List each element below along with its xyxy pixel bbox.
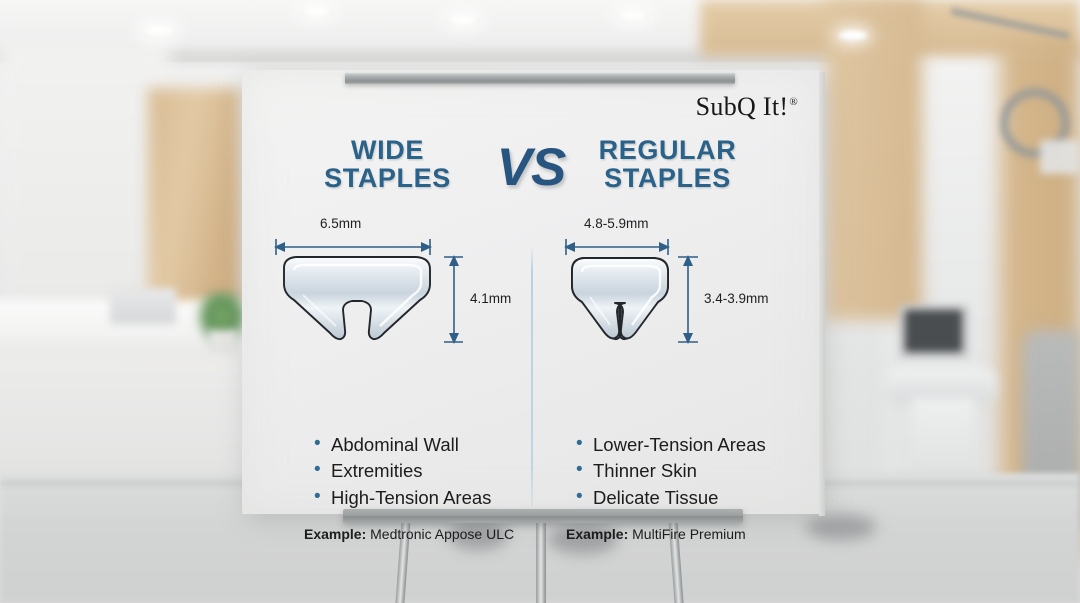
wide-height-label: 4.1mm <box>470 291 511 306</box>
regular-height-label: 3.4-3.9mm <box>704 291 769 306</box>
ultrasound-monitor-screen <box>905 310 962 352</box>
desk-monitor <box>110 288 176 324</box>
title-regular-staples: REGULAR STAPLES <box>560 136 775 193</box>
ceiling-light-icon <box>616 10 650 22</box>
list-item: Thinner Skin <box>576 458 766 484</box>
easel-tray <box>343 509 743 523</box>
wood-panel-right <box>826 0 922 320</box>
plant-pot <box>208 330 238 354</box>
example-label: Example: <box>566 526 628 542</box>
regular-staple-example: Example: MultiFire Premium <box>566 526 746 542</box>
title-regular-line1: REGULAR <box>560 136 775 164</box>
title-row: WIDE STAPLES VS REGULAR STAPLES <box>242 136 820 214</box>
regular-staple-bullets: Lower-Tension Areas Thinner Skin Delicat… <box>576 432 766 511</box>
regular-width-dimension <box>566 239 668 255</box>
wide-staple-diagram: 6.5mm 4.1mm <box>258 220 528 350</box>
regular-staple-svg <box>536 220 806 350</box>
poster-board: SubQ It!® WIDE STAPLES VS REGULAR STAPLE… <box>242 70 820 514</box>
vs-label: VS <box>497 137 566 198</box>
wide-staple-example: Example: Medtronic Appose ULC <box>304 526 514 542</box>
registered-trademark-icon: ® <box>789 96 798 108</box>
list-item: High-Tension Areas <box>314 485 491 511</box>
wide-height-dimension <box>444 257 463 342</box>
list-item: Lower-Tension Areas <box>576 432 766 458</box>
clinic-scene: SubQ It!® WIDE STAPLES VS REGULAR STAPLE… <box>0 0 1080 603</box>
brand-logo-text: SubQ It! <box>696 92 789 121</box>
ceiling-light-icon <box>838 30 868 41</box>
regular-height-dimension <box>678 257 698 342</box>
easel-leg-center <box>536 514 546 603</box>
wide-width-dimension <box>276 239 430 255</box>
list-item: Extremities <box>314 458 491 484</box>
column-wide-staples: 6.5mm 4.1mm Abdominal Wall Extremities H… <box>258 220 528 350</box>
title-wide-staples: WIDE STAPLES <box>280 136 495 193</box>
example-value: MultiFire Premium <box>632 526 746 542</box>
example-label: Example: <box>304 526 366 542</box>
column-divider <box>531 245 533 507</box>
title-wide-line2: STAPLES <box>280 164 495 192</box>
example-value: Medtronic Appose ULC <box>370 526 514 542</box>
ceiling-light-icon <box>140 24 178 38</box>
column-regular-staples: 4.8-5.9mm 3.4-3.9mm Lower-Tension Areas … <box>536 220 806 350</box>
list-item: Abdominal Wall <box>314 432 491 458</box>
wide-staple-bullets: Abdominal Wall Extremities High-Tension … <box>314 432 491 511</box>
ceiling-light-icon <box>445 14 481 27</box>
wide-staple-svg <box>258 220 528 350</box>
list-item: Delicate Tissue <box>576 485 766 511</box>
brand-logo: SubQ It!® <box>696 92 798 122</box>
title-regular-line2: STAPLES <box>560 164 775 192</box>
ceiling-light-icon <box>300 6 334 18</box>
title-wide-line1: WIDE <box>280 136 495 164</box>
regular-width-label: 4.8-5.9mm <box>584 216 649 231</box>
regular-staple-diagram: 4.8-5.9mm 3.4-3.9mm <box>536 220 806 350</box>
wide-width-label: 6.5mm <box>320 216 361 231</box>
wall-equipment-box <box>1040 140 1080 174</box>
easel-clamp-bar <box>345 73 735 84</box>
